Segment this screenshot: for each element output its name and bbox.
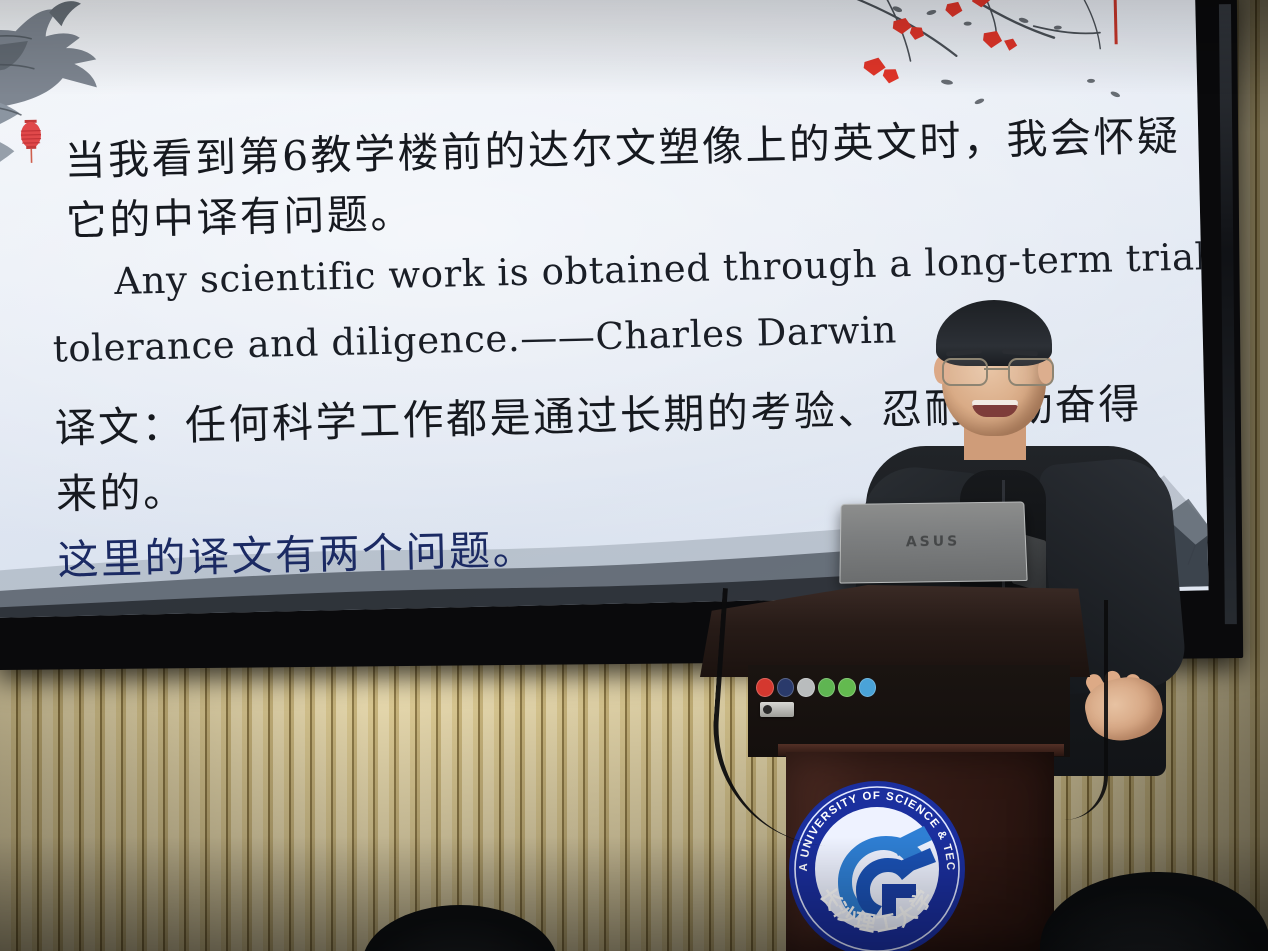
bezel-highlight xyxy=(1219,4,1237,624)
slide-line-3: Any scientific work is obtained through … xyxy=(114,235,1209,303)
eyeglass-lens-right xyxy=(1008,358,1054,386)
lecture-photo-scene: 当我看到第6教学楼前的达尔文塑像上的英文时，我会怀疑 它的中译有问题。 Any … xyxy=(0,0,1268,951)
slide-line-7: 这里的译文有两个问题。 xyxy=(57,516,537,587)
presenter-hair xyxy=(936,300,1052,366)
screen-button[interactable] xyxy=(859,678,877,697)
slide-line-4: tolerance and diligence.——Charles Darwin xyxy=(52,308,897,370)
slide-line-2: 它的中译有问题。 xyxy=(65,179,414,247)
slide-line-6: 来的。 xyxy=(55,457,187,520)
laptop-brand-label: ASUS xyxy=(906,534,961,551)
eyeglass-bridge xyxy=(984,368,1008,370)
presenter-mouth xyxy=(972,400,1018,417)
slide-line-1: 当我看到第6教学楼前的达尔文塑像上的英文时，我会怀疑 xyxy=(64,102,1181,187)
laptop[interactable]: ASUS xyxy=(839,501,1027,583)
podium-cable-right xyxy=(1064,600,1108,820)
eyeglass-lens-left xyxy=(942,358,988,386)
eyeglasses-icon xyxy=(940,358,1052,384)
